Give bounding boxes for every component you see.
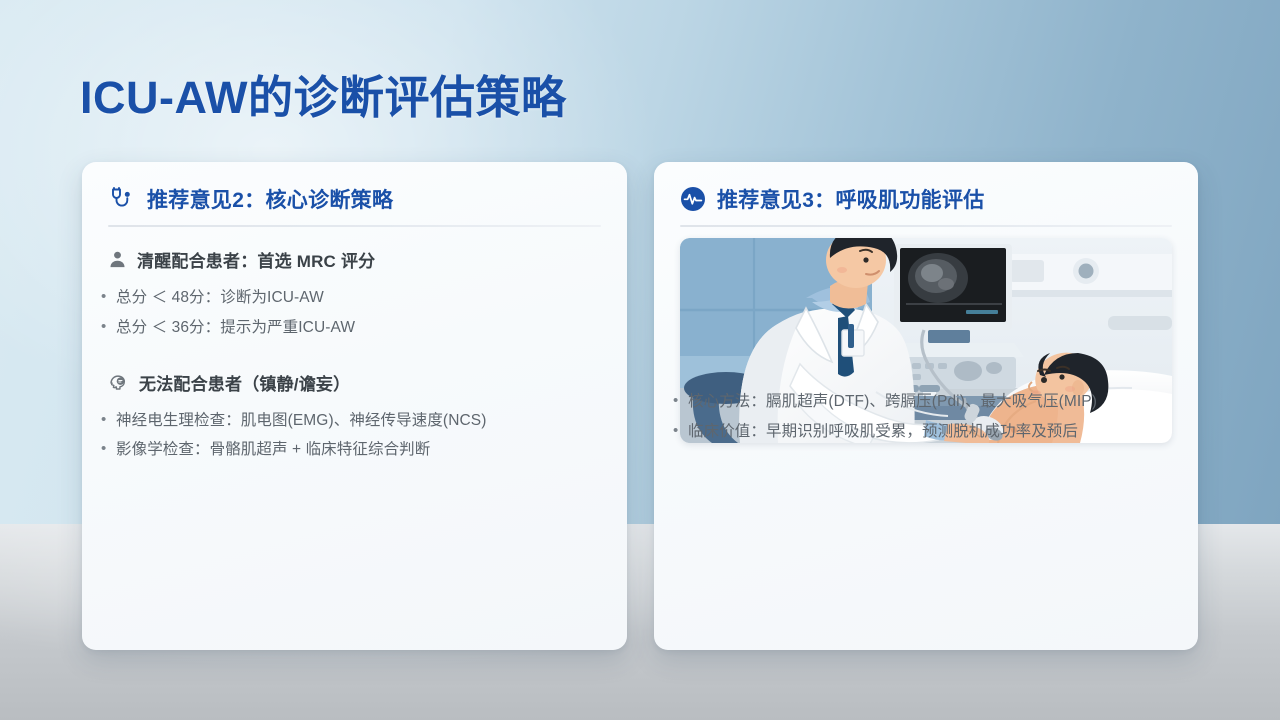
right-card-header: 推荐意见3：呼吸肌功能评估 — [654, 162, 1198, 214]
person-icon — [108, 250, 127, 269]
left-section-2-bullets: 神经电生理检查：肌电图(EMG)、神经传导速度(NCS) 影像学检查：骨骼肌超声… — [82, 409, 627, 462]
page-title: ICU-AW的诊断评估策略 — [80, 72, 566, 124]
list-item: 影像学检查：骨骼肌超声 + 临床特征综合判断 — [116, 438, 601, 462]
left-section-1-header: 清醒配合患者：首选 MRC 评分 — [82, 247, 627, 272]
list-item: 总分 ＜ 36分：提示为严重ICU-AW — [116, 316, 601, 340]
pulse-circle-icon — [680, 186, 706, 212]
left-section-2-header: 无法配合患者（镇静/谵妄） — [82, 370, 627, 395]
psychology-head-icon — [108, 372, 129, 393]
stethoscope-icon — [108, 185, 136, 213]
list-item: 临床价值：早期识别呼吸肌受累，预测脱机成功率及预后 — [688, 420, 1172, 444]
list-item: 核心方法：膈肌超声(DTF)、跨膈压(Pdi)、最大吸气压(MIP) — [688, 390, 1172, 414]
left-section-1-bullets: 总分 ＜ 48分：诊断为ICU-AW 总分 ＜ 36分：提示为严重ICU-AW — [82, 286, 627, 340]
left-section-1-heading: 清醒配合患者：首选 MRC 评分 — [137, 247, 375, 272]
left-card-heading: 推荐意见2：核心诊断策略 — [147, 184, 393, 214]
list-item: 神经电生理检查：肌电图(EMG)、神经传导速度(NCS) — [116, 409, 601, 433]
left-card-divider — [108, 225, 601, 227]
right-card-heading: 推荐意见3：呼吸肌功能评估 — [717, 184, 985, 214]
card-respiratory-muscle-assessment: 推荐意见3：呼吸肌功能评估 — [654, 162, 1198, 650]
right-card-divider — [680, 225, 1172, 227]
list-item: 总分 ＜ 48分：诊断为ICU-AW — [116, 286, 601, 310]
left-card-header: 推荐意见2：核心诊断策略 — [82, 162, 627, 214]
card-core-diagnosis-strategy: 推荐意见2：核心诊断策略 清醒配合患者：首选 MRC 评分 总分 ＜ 48分：诊… — [82, 162, 627, 650]
left-section-2-heading: 无法配合患者（镇静/谵妄） — [139, 370, 350, 395]
